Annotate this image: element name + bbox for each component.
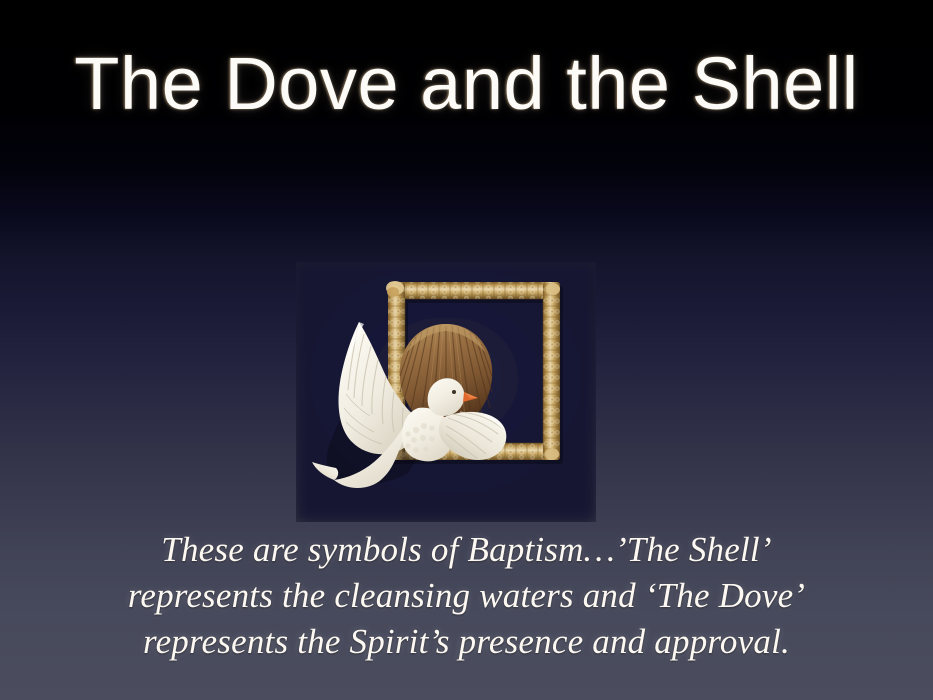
frame-rail-right xyxy=(543,282,560,460)
dove-and-shell-illustration xyxy=(296,262,596,522)
title-area: The Dove and the Shell xyxy=(0,44,933,124)
caption-area: These are symbols of Baptism…’The Shell’… xyxy=(0,527,933,665)
caption-line-1: These are symbols of Baptism…’The Shell’ xyxy=(0,527,933,573)
presentation-slide: The Dove and the Shell xyxy=(0,0,933,700)
page-title: The Dove and the Shell xyxy=(74,44,858,124)
caption-line-2: represents the cleansing waters and ‘The… xyxy=(0,573,933,619)
dove-and-shell-photo xyxy=(296,262,596,522)
dove-eye xyxy=(452,390,456,394)
caption-line-3: represents the Spirit’s presence and app… xyxy=(0,619,933,665)
frame-rail-top xyxy=(388,282,560,299)
